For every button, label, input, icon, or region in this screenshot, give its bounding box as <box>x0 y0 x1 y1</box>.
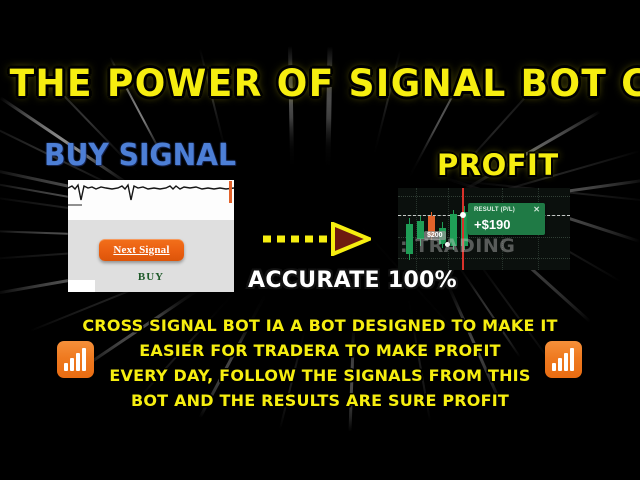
chart-price-marker <box>229 181 232 203</box>
background-bottom-mask <box>0 436 640 480</box>
background-top-mask <box>0 0 640 46</box>
bar-chart-bars <box>64 348 86 371</box>
buy-signal-label: BUY SIGNAL <box>44 138 236 173</box>
result-tooltip-label: RESULT (P/L) <box>474 207 515 213</box>
bar-chart-bars <box>552 348 574 371</box>
entry-vertical-line <box>462 188 464 270</box>
trading-watermark: : TRADING <box>400 235 515 257</box>
description-line-2: EASIER FOR TRADERA TO MAKE PROFIT <box>0 338 640 363</box>
signal-app-screenshot: Next Signal BUY <box>68 180 234 292</box>
line-chart-svg <box>68 180 234 220</box>
app-white-chip <box>68 280 95 292</box>
profit-label: PROFIT <box>437 148 559 182</box>
app-line-chart <box>68 180 234 220</box>
trading-result-screenshot: $200 : TRADING RESULT (P/L) +$190 ✕ <box>398 188 570 270</box>
result-tooltip[interactable]: RESULT (P/L) +$190 ✕ <box>468 203 545 235</box>
page-title: THE POWER OF SIGNAL BOT CROSS <box>10 62 631 105</box>
next-signal-button[interactable]: Next Signal <box>99 239 184 261</box>
description-line-1: CROSS SIGNAL BOT IA A BOT DESIGNED TO MA… <box>0 313 640 338</box>
description-line-3: EVERY DAY, FOLLOW THE SIGNALS FROM THIS <box>0 363 640 388</box>
close-price-dot <box>460 212 466 218</box>
description-line-4: BOT AND THE RESULTS ARE SURE PROFIT <box>0 388 640 413</box>
result-tooltip-value: +$190 <box>474 217 511 232</box>
thumbnail-canvas: THE POWER OF SIGNAL BOT CROSS BUY SIGNAL… <box>0 0 640 480</box>
accurate-badge: ACCURATE 100% <box>248 268 457 293</box>
bar-chart-icon <box>57 341 94 378</box>
bar-chart-icon <box>545 341 582 378</box>
dashed-arrow-right-icon <box>261 222 371 256</box>
close-icon[interactable]: ✕ <box>533 206 540 214</box>
app-panel-body: Next Signal BUY <box>68 220 234 292</box>
description-paragraph: CROSS SIGNAL BOT IA A BOT DESIGNED TO MA… <box>0 313 640 413</box>
